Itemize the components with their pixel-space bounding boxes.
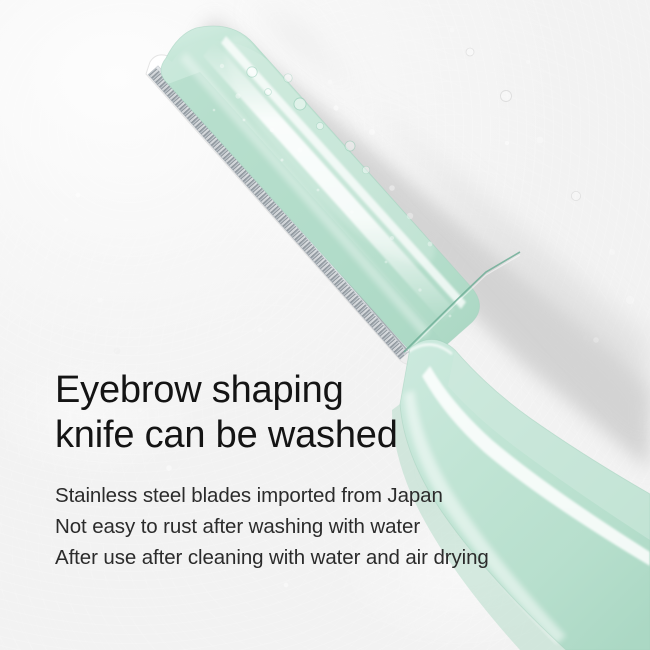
headline: Eyebrow shaping knife can be washed (55, 368, 615, 458)
feature-item: Not easy to rust after washing with wate… (55, 511, 615, 542)
product-marketing-poster: Eyebrow shaping knife can be washed Stai… (0, 0, 650, 650)
copy-block: Eyebrow shaping knife can be washed Stai… (55, 368, 615, 573)
feature-item: After use after cleaning with water and … (55, 542, 615, 573)
feature-item: Stainless steel blades imported from Jap… (55, 480, 615, 511)
feature-list: Stainless steel blades imported from Jap… (55, 480, 615, 573)
